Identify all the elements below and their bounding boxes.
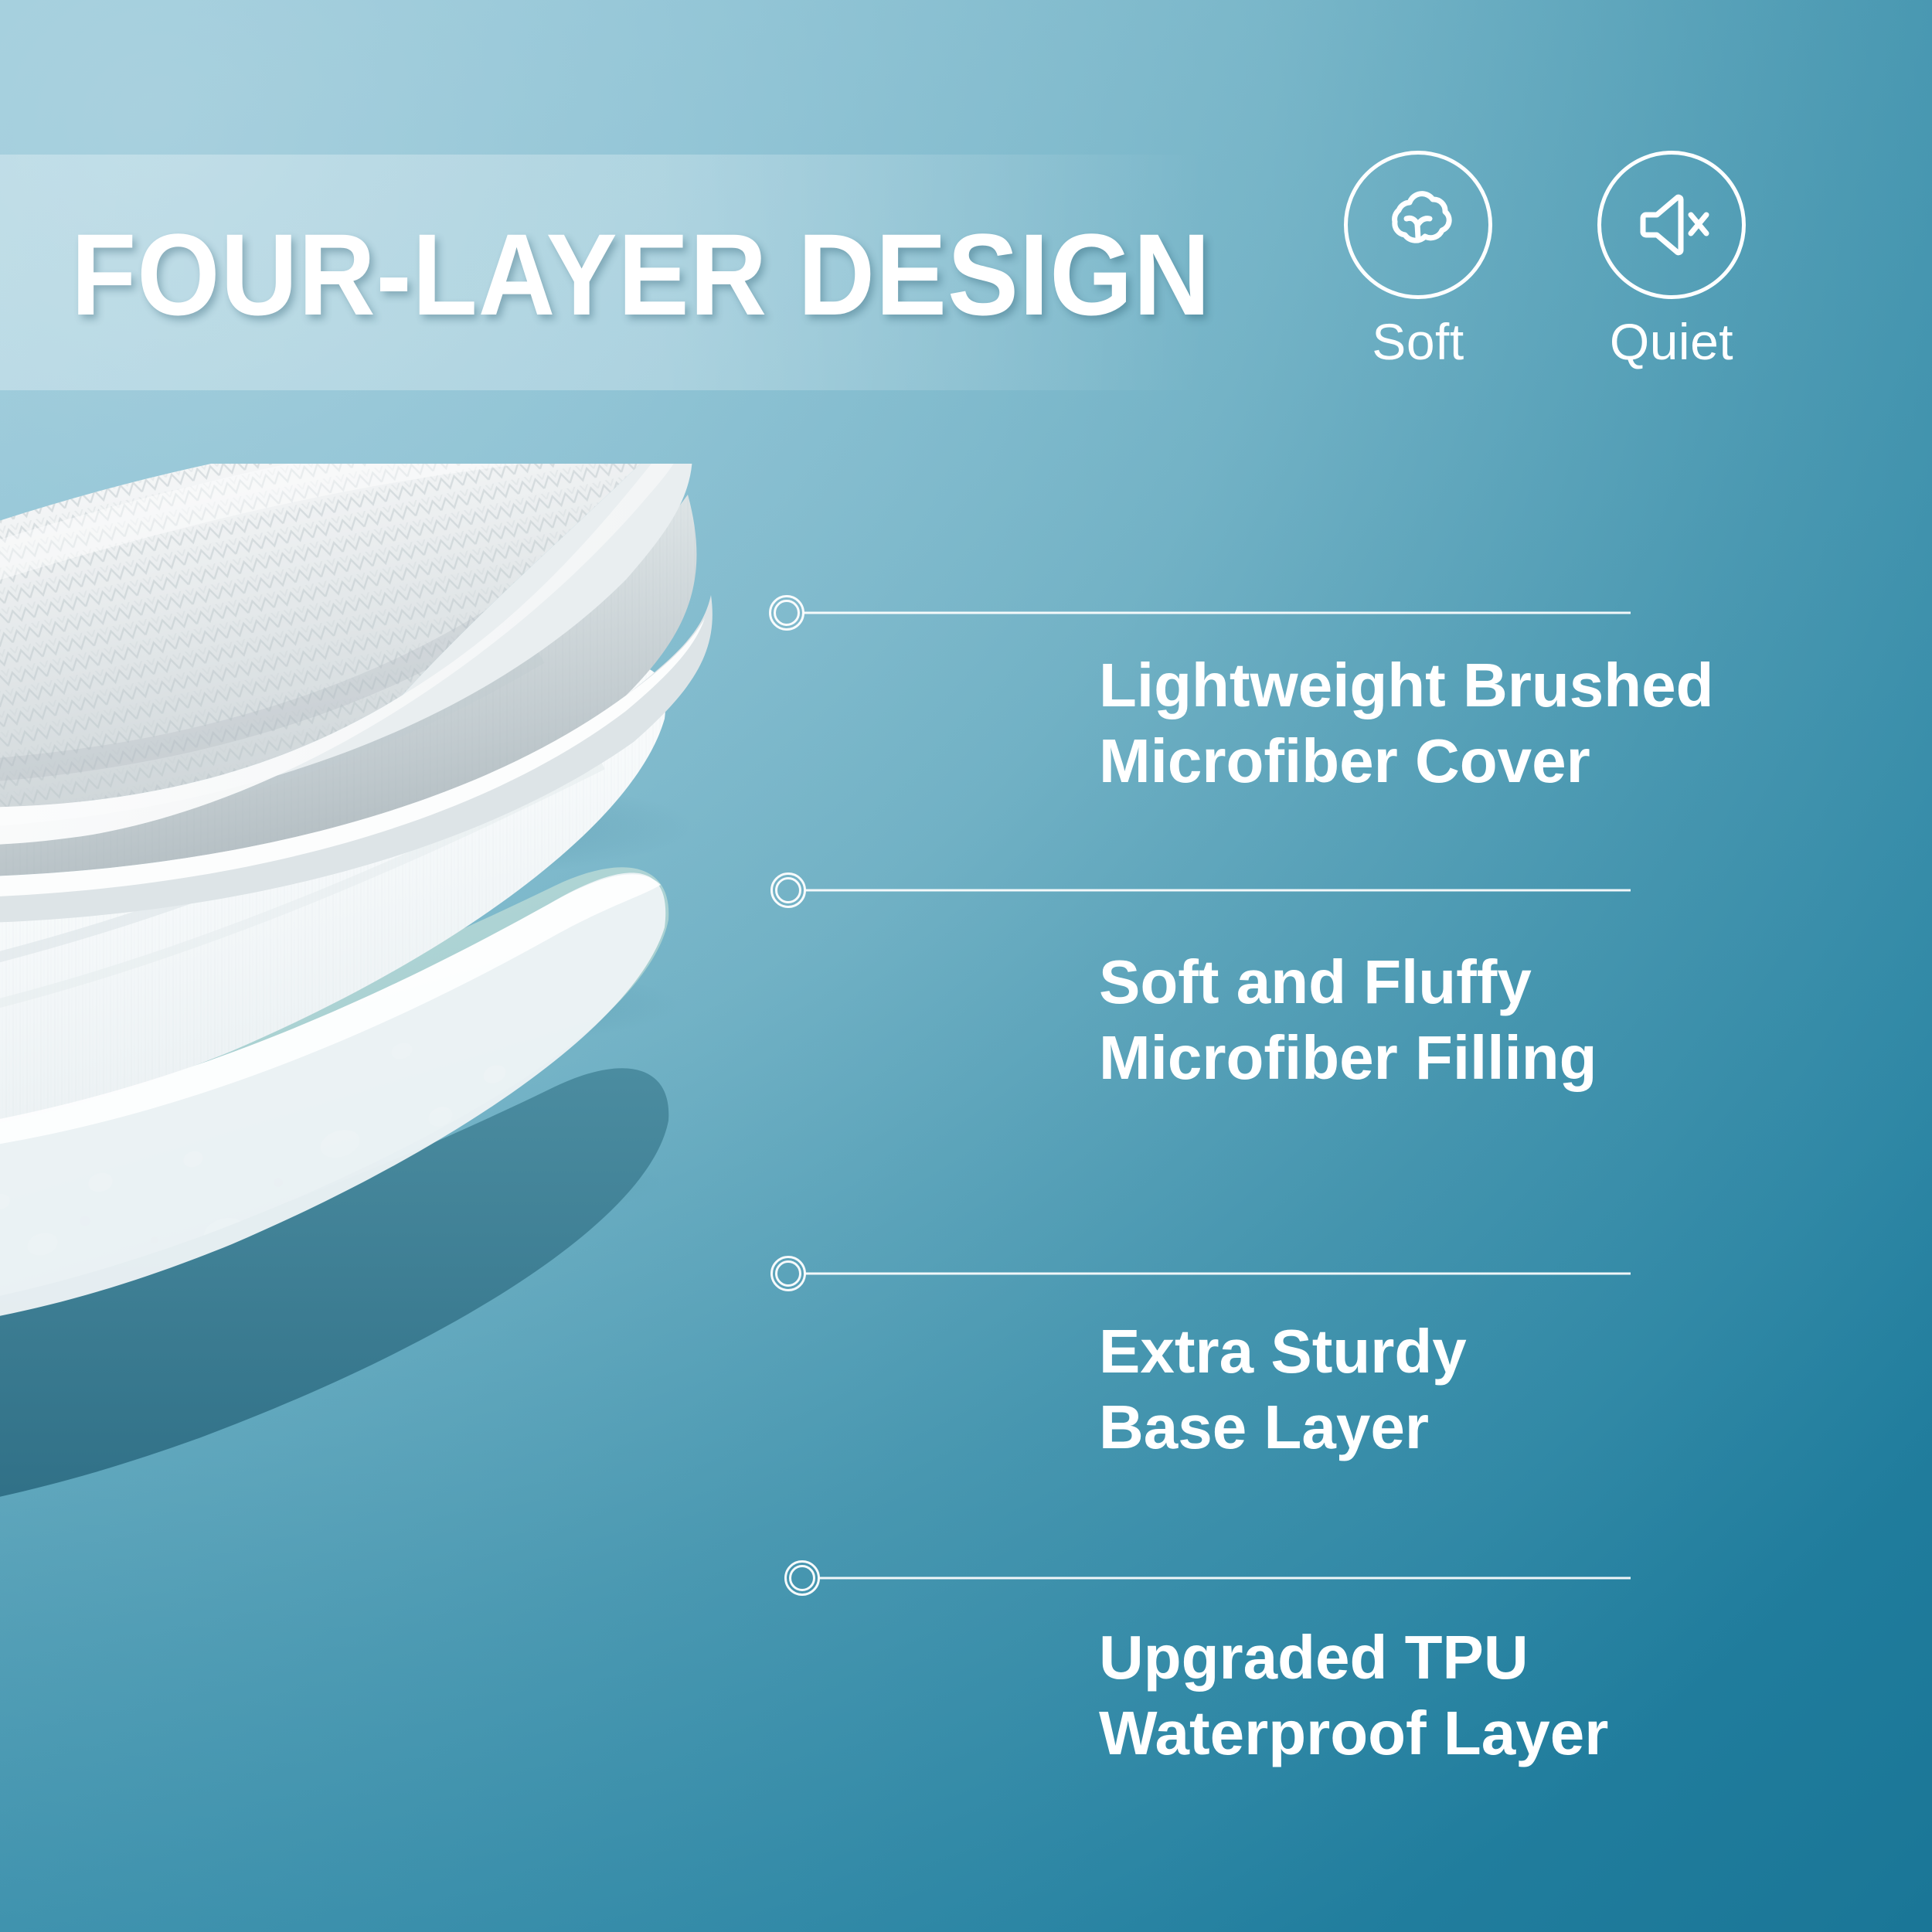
- layer-label-2: Soft and Fluffy Microfiber Filling: [1099, 944, 1918, 1095]
- layer-label-3: Extra Sturdy Base Layer: [1099, 1314, 1918, 1464]
- product-infographic: FOUR-LAYER DESIGN Soft: [0, 0, 1932, 1932]
- exploded-layer-illustration: [0, 464, 1113, 1716]
- layer-label-2-line2: Microfiber Filling: [1099, 1020, 1918, 1096]
- layer-label-3-line2: Base Layer: [1099, 1389, 1918, 1465]
- layer-label-4-line2: Waterproof Layer: [1099, 1696, 1918, 1771]
- page-title: FOUR-LAYER DESIGN: [71, 158, 1138, 390]
- layer-label-3-line1: Extra Sturdy: [1099, 1314, 1918, 1389]
- layer-labels: Lightweight Brushed Microfiber Cover Sof…: [1099, 0, 1918, 1932]
- layer-label-1: Lightweight Brushed Microfiber Cover: [1099, 648, 1918, 798]
- layer-label-2-line1: Soft and Fluffy: [1099, 944, 1918, 1020]
- layer-label-1-line2: Microfiber Cover: [1099, 723, 1918, 799]
- layer-label-4: Upgraded TPU Waterproof Layer: [1099, 1620, 1918, 1770]
- layer-label-4-line1: Upgraded TPU: [1099, 1620, 1918, 1696]
- layer-label-1-line1: Lightweight Brushed: [1099, 648, 1918, 723]
